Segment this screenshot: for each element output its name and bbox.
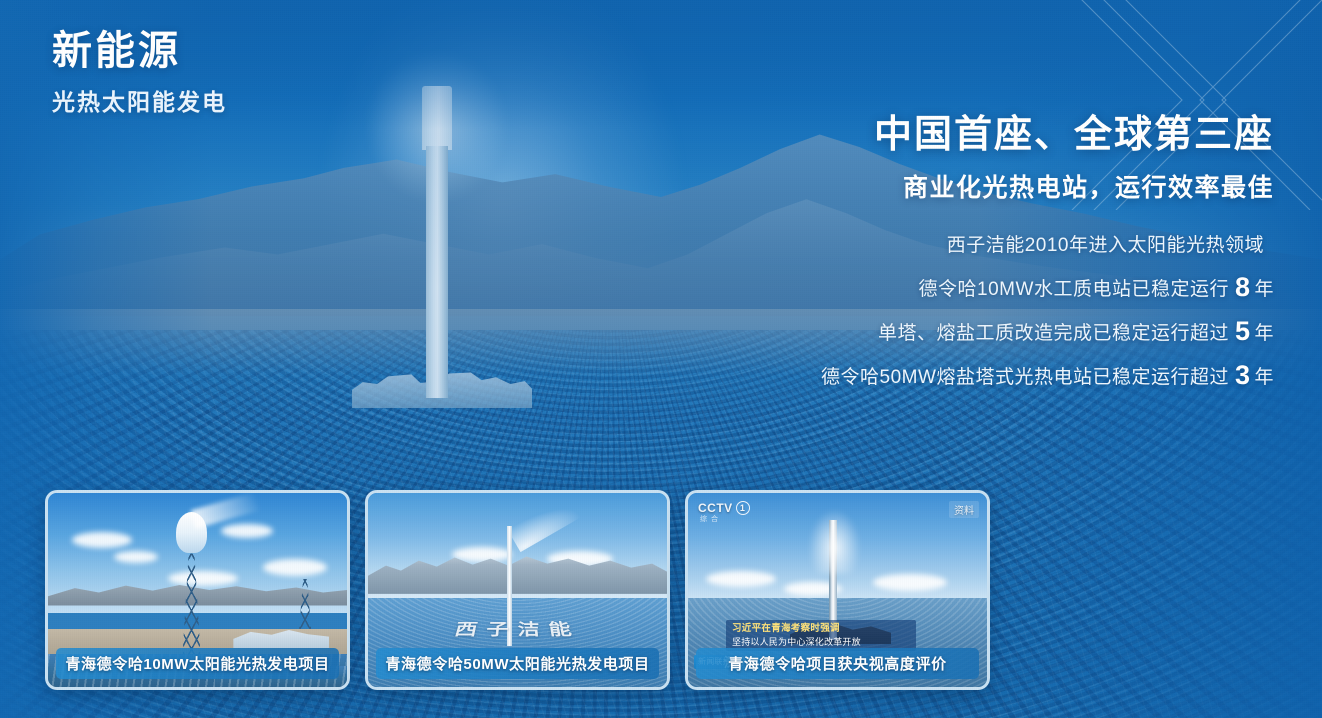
- fact-item: 单塔、熔盐工质改造完成已稳定运行超过5年: [754, 318, 1274, 345]
- photo-card-10mw[interactable]: 青海德令哈10MW太阳能光热发电项目: [45, 490, 350, 690]
- photo-lattice-structure: [299, 579, 311, 629]
- headline-primary: 中国首座、全球第三座: [754, 112, 1274, 158]
- news-lower-third: 习近平在青海考察时强调 坚持以人民为中心深化改革开放: [726, 620, 916, 651]
- fact-unit: 年: [1254, 279, 1274, 300]
- cloud: [168, 571, 238, 586]
- cctv-channel-logo-icon: CCTV 1: [698, 501, 750, 515]
- cloud: [72, 532, 132, 548]
- fact-item: 德令哈50MW熔盐塔式光热电站已稳定运行超过3年: [754, 362, 1274, 389]
- fact-unit: 年: [1254, 323, 1274, 344]
- fact-text: 德令哈50MW熔盐塔式光热电站已稳定运行超过: [821, 367, 1229, 388]
- fact-number: 8: [1229, 272, 1255, 302]
- page-title: 新能源: [52, 28, 227, 75]
- photo-card-cctv[interactable]: CCTV 1 综合 资料 习近平在青海考察时强调 坚持以人民为中心深化改革开放 …: [685, 490, 990, 690]
- fact-unit: 年: [1254, 367, 1274, 388]
- photo-caption: 青海德令哈50MW太阳能光热发电项目: [376, 648, 659, 679]
- page-subtitle: 光热太阳能发电: [52, 83, 227, 117]
- photo-card-row: 青海德令哈10MW太阳能光热发电项目 西子洁能 青海德令哈50MW太阳能光热发电…: [45, 490, 990, 690]
- photo-caption: 青海德令哈10MW太阳能光热发电项目: [56, 648, 339, 679]
- ground-logo-text: 西子洁能: [391, 617, 644, 640]
- photo-caption: 青海德令哈项目获央视高度评价: [696, 648, 979, 679]
- photo-secondary-tower: [299, 559, 311, 629]
- archive-footage-label: 资料: [949, 501, 979, 518]
- headline-block: 中国首座、全球第三座 商业化光热电站，运行效率最佳 西子洁能2010年进入太阳能…: [754, 112, 1274, 406]
- fact-list: 西子洁能2010年进入太阳能光热领域 德令哈10MW水工质电站已稳定运行8年 单…: [754, 230, 1274, 389]
- photo-card-50mw[interactable]: 西子洁能 青海德令哈50MW太阳能光热发电项目: [365, 490, 670, 690]
- headline-secondary: 商业化光热电站，运行效率最佳: [754, 168, 1274, 204]
- slide-root: 新能源 光热太阳能发电 中国首座、全球第三座 商业化光热电站，运行效率最佳 西子…: [0, 0, 1322, 718]
- fact-number: 5: [1229, 316, 1255, 346]
- cctv-channel-subtitle: 综合: [700, 514, 722, 524]
- news-headline: 习近平在青海考察时强调: [732, 623, 910, 636]
- title-block: 新能源 光热太阳能发电: [52, 28, 227, 117]
- fact-item: 西子洁能2010年进入太阳能光热领域: [754, 230, 1274, 257]
- fact-number: [1264, 228, 1274, 258]
- cctv-wordmark: CCTV: [698, 501, 733, 515]
- photo-main-tower: [183, 514, 201, 654]
- cloud: [706, 571, 776, 587]
- photo-tower-glow: [808, 509, 862, 575]
- fact-number: 3: [1229, 360, 1255, 390]
- fact-text: 西子洁能2010年进入太阳能光热领域: [947, 235, 1264, 256]
- cctv-channel-number: 1: [736, 501, 750, 515]
- fact-text: 单塔、熔盐工质改造完成已稳定运行超过: [878, 323, 1229, 344]
- fact-text: 德令哈10MW水工质电站已稳定运行: [919, 279, 1229, 300]
- fact-item: 德令哈10MW水工质电站已稳定运行8年: [754, 274, 1274, 301]
- cloud: [263, 559, 327, 576]
- news-subheadline: 坚持以人民为中心深化改革开放: [732, 636, 910, 648]
- photo-lattice-structure: [183, 553, 201, 654]
